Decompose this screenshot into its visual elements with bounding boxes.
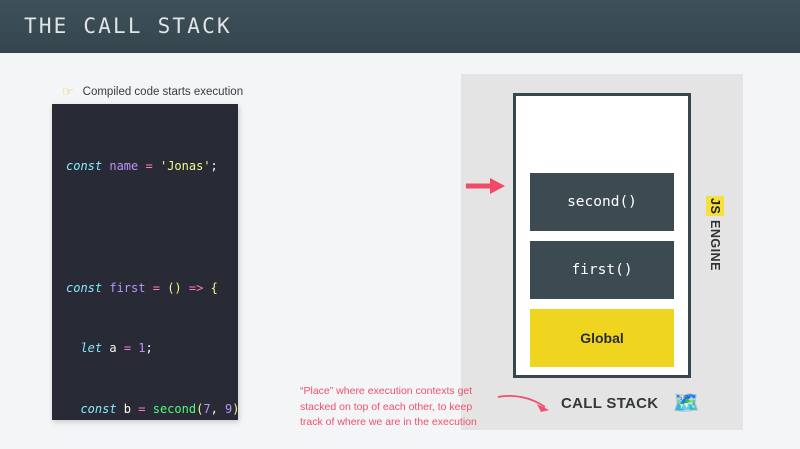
- code-line: const first = () => {: [66, 278, 238, 298]
- code-annotation: ☞ Compiled code starts execution: [62, 85, 243, 98]
- call-stack-container: second() first() Global: [513, 93, 691, 378]
- page-title: THE CALL STACK: [24, 14, 232, 38]
- code-annotation-label: Compiled code starts execution: [83, 86, 243, 98]
- engine-label: ENGINE: [706, 220, 722, 271]
- js-badge: JS: [706, 196, 724, 216]
- execution-pointer-arrow-icon: [466, 176, 506, 196]
- stack-frame-first: first(): [530, 241, 674, 299]
- code-line: const name = 'Jonas';: [66, 156, 238, 176]
- call-stack-caption-label: CALL STACK: [561, 395, 658, 412]
- code-line: let a = 1;: [66, 338, 238, 358]
- call-stack-caption: CALL STACK 🗺️: [561, 392, 700, 414]
- code-line: [66, 217, 238, 237]
- code-block: const name = 'Jonas'; const first = () =…: [52, 104, 238, 420]
- code-lines: const name = 'Jonas'; const first = () =…: [66, 116, 238, 420]
- code-line: const b = second(7, 9);: [66, 399, 238, 419]
- header-bar: THE CALL STACK: [0, 0, 800, 53]
- pointing-hand-icon: ☞: [62, 85, 74, 98]
- stack-frame-global: Global: [530, 309, 674, 367]
- curved-arrow-icon: [497, 391, 555, 417]
- call-stack-note: “Place” where execution contexts get sta…: [300, 384, 495, 431]
- stack-frame-second: second(): [530, 173, 674, 231]
- world-map-icon: 🗺️: [672, 392, 699, 414]
- js-engine-label: JS ENGINE: [706, 196, 724, 271]
